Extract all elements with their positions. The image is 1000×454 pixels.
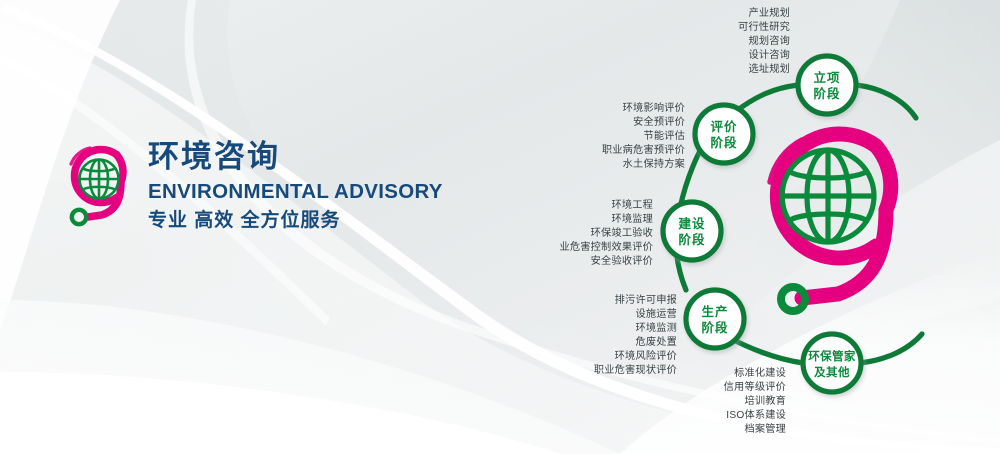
node-label-line1: 评价 — [710, 120, 737, 134]
list-item: 环境监测 — [635, 321, 677, 334]
service-flow-diagram: 立项 阶段 产业规划 可行性研究 规划咨询 设计咨询 选址规划 评价 阶段 环境… — [560, 0, 1000, 454]
node-shengchan-jieduan[interactable]: 生产 阶段 — [686, 290, 744, 348]
node-circle[interactable] — [803, 334, 861, 392]
list-item: 设施运营 — [635, 307, 677, 320]
list-item: 环境风险评价 — [615, 349, 677, 362]
node-lixiang-items: 产业规划 可行性研究 规划咨询 设计咨询 选址规划 — [738, 6, 790, 75]
node-label-line2: 及其他 — [814, 365, 850, 379]
node-label-line2: 阶段 — [701, 320, 728, 335]
page-subtitle: 专业 高效 全方位服务 — [148, 209, 443, 234]
node-circle[interactable] — [686, 290, 744, 348]
list-item: 环境工程 — [611, 198, 653, 211]
list-item: 设计咨询 — [748, 48, 790, 61]
list-item: 职业病危害预评价 — [602, 143, 685, 156]
center-globe-logo-icon — [770, 134, 891, 311]
node-label-line1: 建设 — [678, 216, 705, 231]
node-jianshe-jieduan[interactable]: 建设 阶段 — [663, 202, 721, 260]
list-item: 安全验收评价 — [591, 254, 653, 267]
node-label-line1: 立项 — [813, 70, 840, 85]
list-item: 选址规划 — [748, 62, 790, 75]
banner-canvas: 环境咨询 ENVIRONMENTAL ADVISORY 专业 高效 全方位服务 — [0, 0, 1000, 454]
list-item: 水土保持方案 — [623, 157, 685, 170]
list-item: 危废处置 — [635, 335, 677, 348]
list-item: 职业危害现状评价 — [594, 363, 677, 376]
list-item: 安全预评价 — [633, 115, 685, 128]
list-item: 信用等级评价 — [724, 380, 786, 393]
list-item: 职业危害控制效果评价 — [560, 240, 653, 253]
brand-block: 环境咨询 ENVIRONMENTAL ADVISORY 专业 高效 全方位服务 — [58, 138, 443, 234]
list-item: 环境监理 — [611, 212, 653, 225]
list-item: 节能评估 — [643, 129, 685, 142]
globe-swirl-logo-icon — [58, 138, 140, 230]
node-circle[interactable] — [695, 105, 753, 163]
node-label-line1: 生产 — [701, 304, 728, 319]
node-pingjia-jieduan[interactable]: 评价 阶段 — [695, 105, 753, 163]
node-huanbaoguanjia[interactable]: 环保管家 及其他 — [803, 334, 861, 392]
page-title-en: ENVIRONMENTAL ADVISORY — [148, 179, 443, 205]
node-label-line2: 阶段 — [710, 135, 737, 150]
node-huanbaoguanjia-items: 标准化建设 信用等级评价 培训教育 ISO体系建设 档案管理 — [724, 366, 786, 435]
list-item: 排污许可申报 — [615, 293, 677, 306]
node-label-line2: 阶段 — [813, 86, 840, 101]
list-item: 环境影响评价 — [623, 101, 685, 114]
node-shengchan-items: 排污许可申报 设施运营 环境监测 危废处置 环境风险评价 职业危害现状评价 — [594, 293, 677, 376]
list-item: ISO体系建设 — [726, 408, 786, 421]
node-label-line1: 环保管家 — [808, 349, 856, 363]
list-item: 可行性研究 — [738, 20, 790, 33]
list-item: 档案管理 — [744, 422, 786, 435]
page-title: 环境咨询 — [148, 140, 443, 175]
node-lixiang-jieduan[interactable]: 立项 阶段 — [798, 56, 856, 114]
list-item: 标准化建设 — [734, 366, 786, 379]
list-item: 环保竣工验收 — [591, 226, 653, 239]
list-item: 规划咨询 — [748, 34, 790, 47]
node-label-line2: 阶段 — [678, 232, 705, 247]
node-circle[interactable] — [798, 56, 856, 114]
node-jianshe-items: 环境工程 环境监理 环保竣工验收 职业危害控制效果评价 安全验收评价 — [560, 198, 653, 267]
node-pingjia-items: 环境影响评价 安全预评价 节能评估 职业病危害预评价 水土保持方案 — [602, 101, 685, 170]
node-circle[interactable] — [663, 202, 721, 260]
list-item: 培训教育 — [744, 394, 786, 407]
list-item: 产业规划 — [748, 6, 790, 19]
